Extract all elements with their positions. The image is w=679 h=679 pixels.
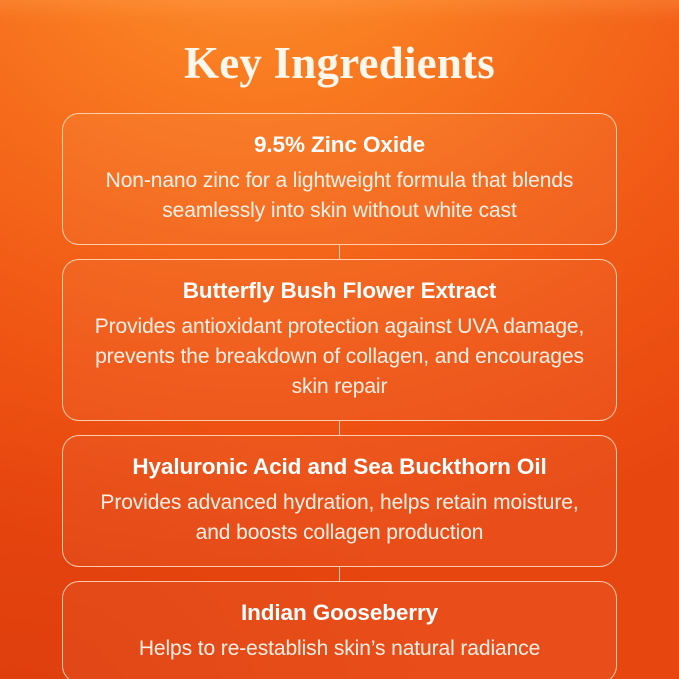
ingredient-card-body: Non-nano zinc for a lightweight formula … — [85, 166, 594, 226]
ingredient-card-indian-gooseberry: Indian Gooseberry Helps to re-establish … — [62, 581, 617, 679]
connector-stroke — [339, 245, 340, 259]
ingredient-card-title: 9.5% Zinc Oxide — [85, 130, 594, 160]
ingredient-card-title: Butterfly Bush Flower Extract — [85, 276, 594, 306]
connector-stroke — [339, 421, 340, 435]
page-title: Key Ingredients — [0, 36, 679, 90]
ingredient-card-body: Provides advanced hydration, helps retai… — [85, 488, 594, 548]
ingredient-card-body: Helps to re-establish skin’s natural rad… — [85, 634, 594, 664]
ingredient-card-hyaluronic-acid-sea-buckthorn-oil: Hyaluronic Acid and Sea Buckthorn Oil Pr… — [62, 435, 617, 567]
ingredient-card-list: 9.5% Zinc Oxide Non-nano zinc for a ligh… — [62, 113, 617, 679]
ingredient-card-zinc-oxide: 9.5% Zinc Oxide Non-nano zinc for a ligh… — [62, 113, 617, 245]
ingredient-card-title: Hyaluronic Acid and Sea Buckthorn Oil — [85, 452, 594, 482]
ingredient-card-body: Provides antioxidant protection against … — [85, 312, 594, 402]
card-connector-line — [62, 567, 617, 581]
key-ingredients-poster: Key Ingredients 9.5% Zinc Oxide Non-nano… — [0, 0, 679, 679]
card-connector-line — [62, 245, 617, 259]
card-connector-line — [62, 421, 617, 435]
ingredient-card-title: Indian Gooseberry — [85, 598, 594, 628]
connector-stroke — [339, 567, 340, 581]
ingredient-card-butterfly-bush-flower-extract: Butterfly Bush Flower Extract Provides a… — [62, 259, 617, 421]
